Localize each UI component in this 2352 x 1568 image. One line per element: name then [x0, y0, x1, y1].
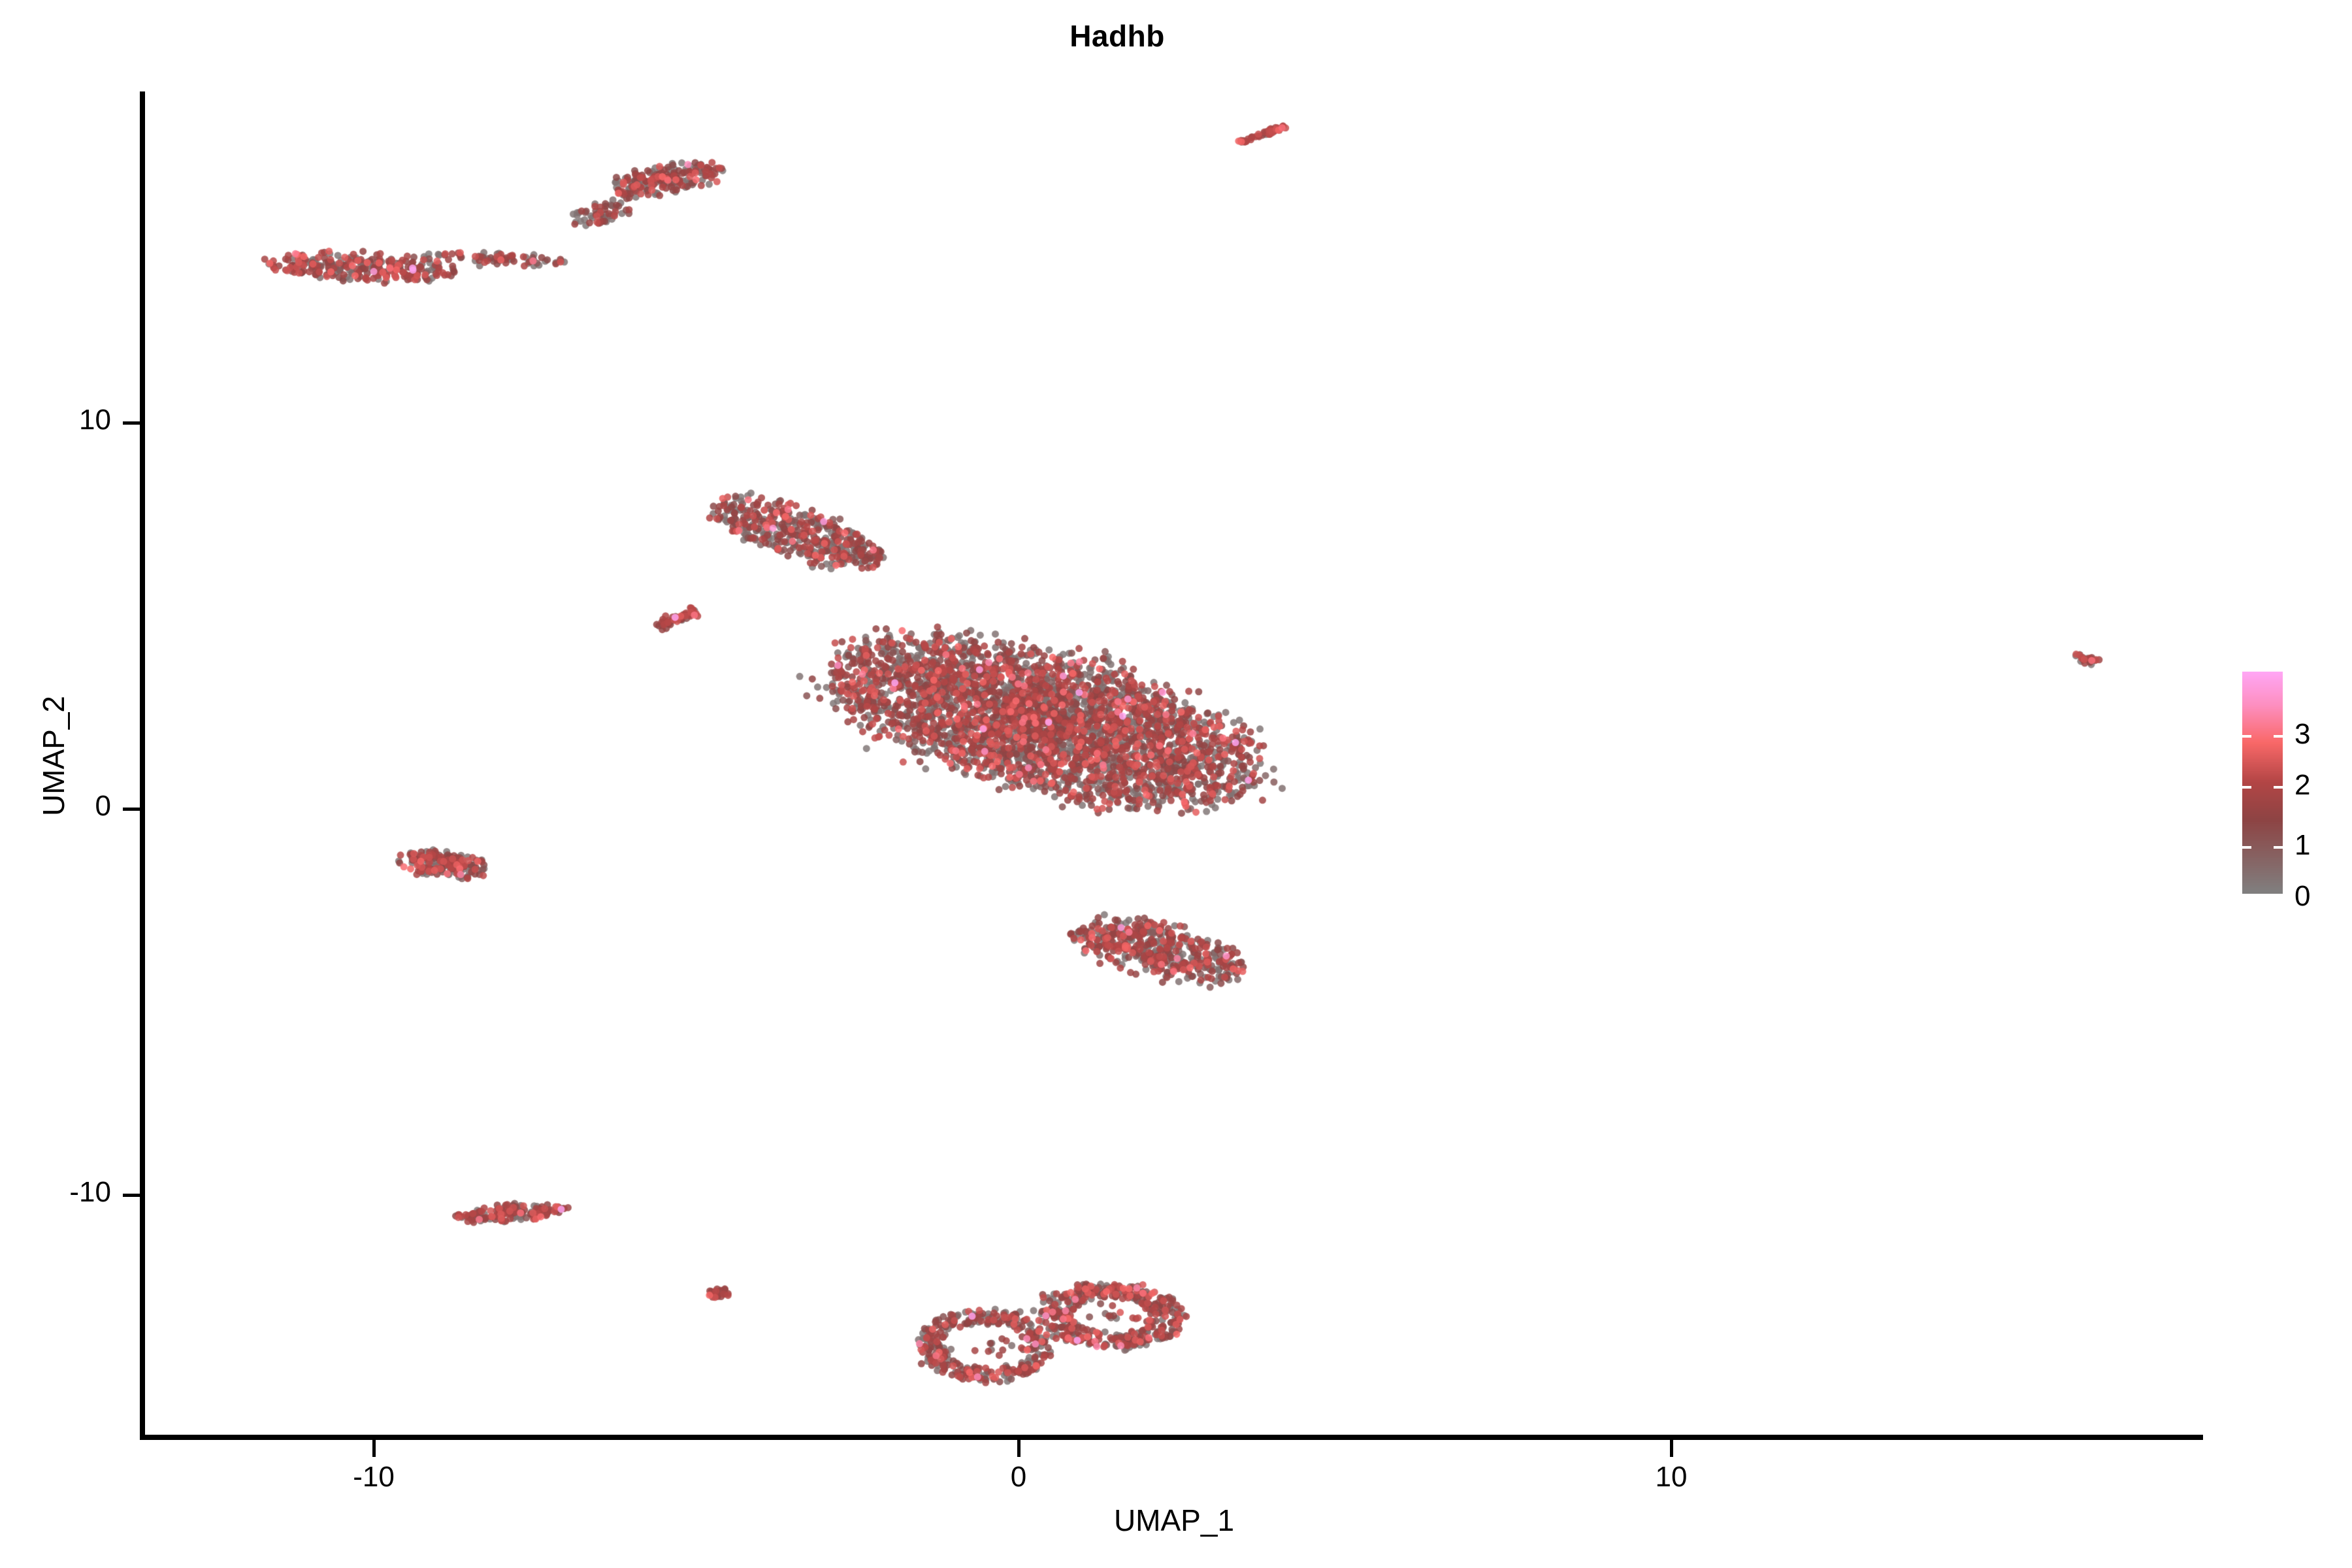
- colorbar-label: 1: [2295, 829, 2310, 862]
- colorbar-label: 3: [2295, 718, 2310, 751]
- y-tick-label: -10: [0, 1176, 111, 1209]
- colorbar-tick: [2274, 846, 2283, 849]
- y-tick-mark: [123, 421, 140, 425]
- x-tick-label: 10: [1586, 1461, 1756, 1494]
- x-tick-mark: [372, 1440, 376, 1457]
- x-tick-label: -10: [289, 1461, 459, 1494]
- y-tick-mark: [123, 808, 140, 811]
- x-axis-line: [140, 1435, 2203, 1440]
- scatter-plot-canvas: [145, 91, 2203, 1440]
- colorbar-gradient: [2242, 672, 2283, 894]
- colorbar-tick: [2242, 786, 2251, 789]
- y-axis-line: [140, 91, 145, 1440]
- y-axis-label: UMAP_2: [36, 429, 71, 1083]
- colorbar-tick: [2274, 786, 2283, 789]
- colorbar-legend: 3 2 1 0: [2242, 666, 2340, 902]
- plot-panel: [145, 91, 2203, 1440]
- x-tick-mark: [1017, 1440, 1021, 1457]
- x-axis-label: UMAP_1: [145, 1503, 2203, 1538]
- x-tick-mark: [1670, 1440, 1673, 1457]
- page-title: Hadhb: [0, 18, 2234, 54]
- colorbar-tick: [2274, 735, 2283, 738]
- colorbar-label: 2: [2295, 769, 2310, 802]
- colorbar-tick: [2242, 735, 2251, 738]
- colorbar-label: 0: [2295, 880, 2310, 913]
- x-tick-label: 0: [934, 1461, 1103, 1494]
- figure-root: Hadhb -10 0 10 10 0 -10 UMAP_1 UMAP_2 3 …: [0, 0, 2352, 1568]
- y-tick-mark: [123, 1194, 140, 1197]
- colorbar-tick: [2242, 846, 2251, 849]
